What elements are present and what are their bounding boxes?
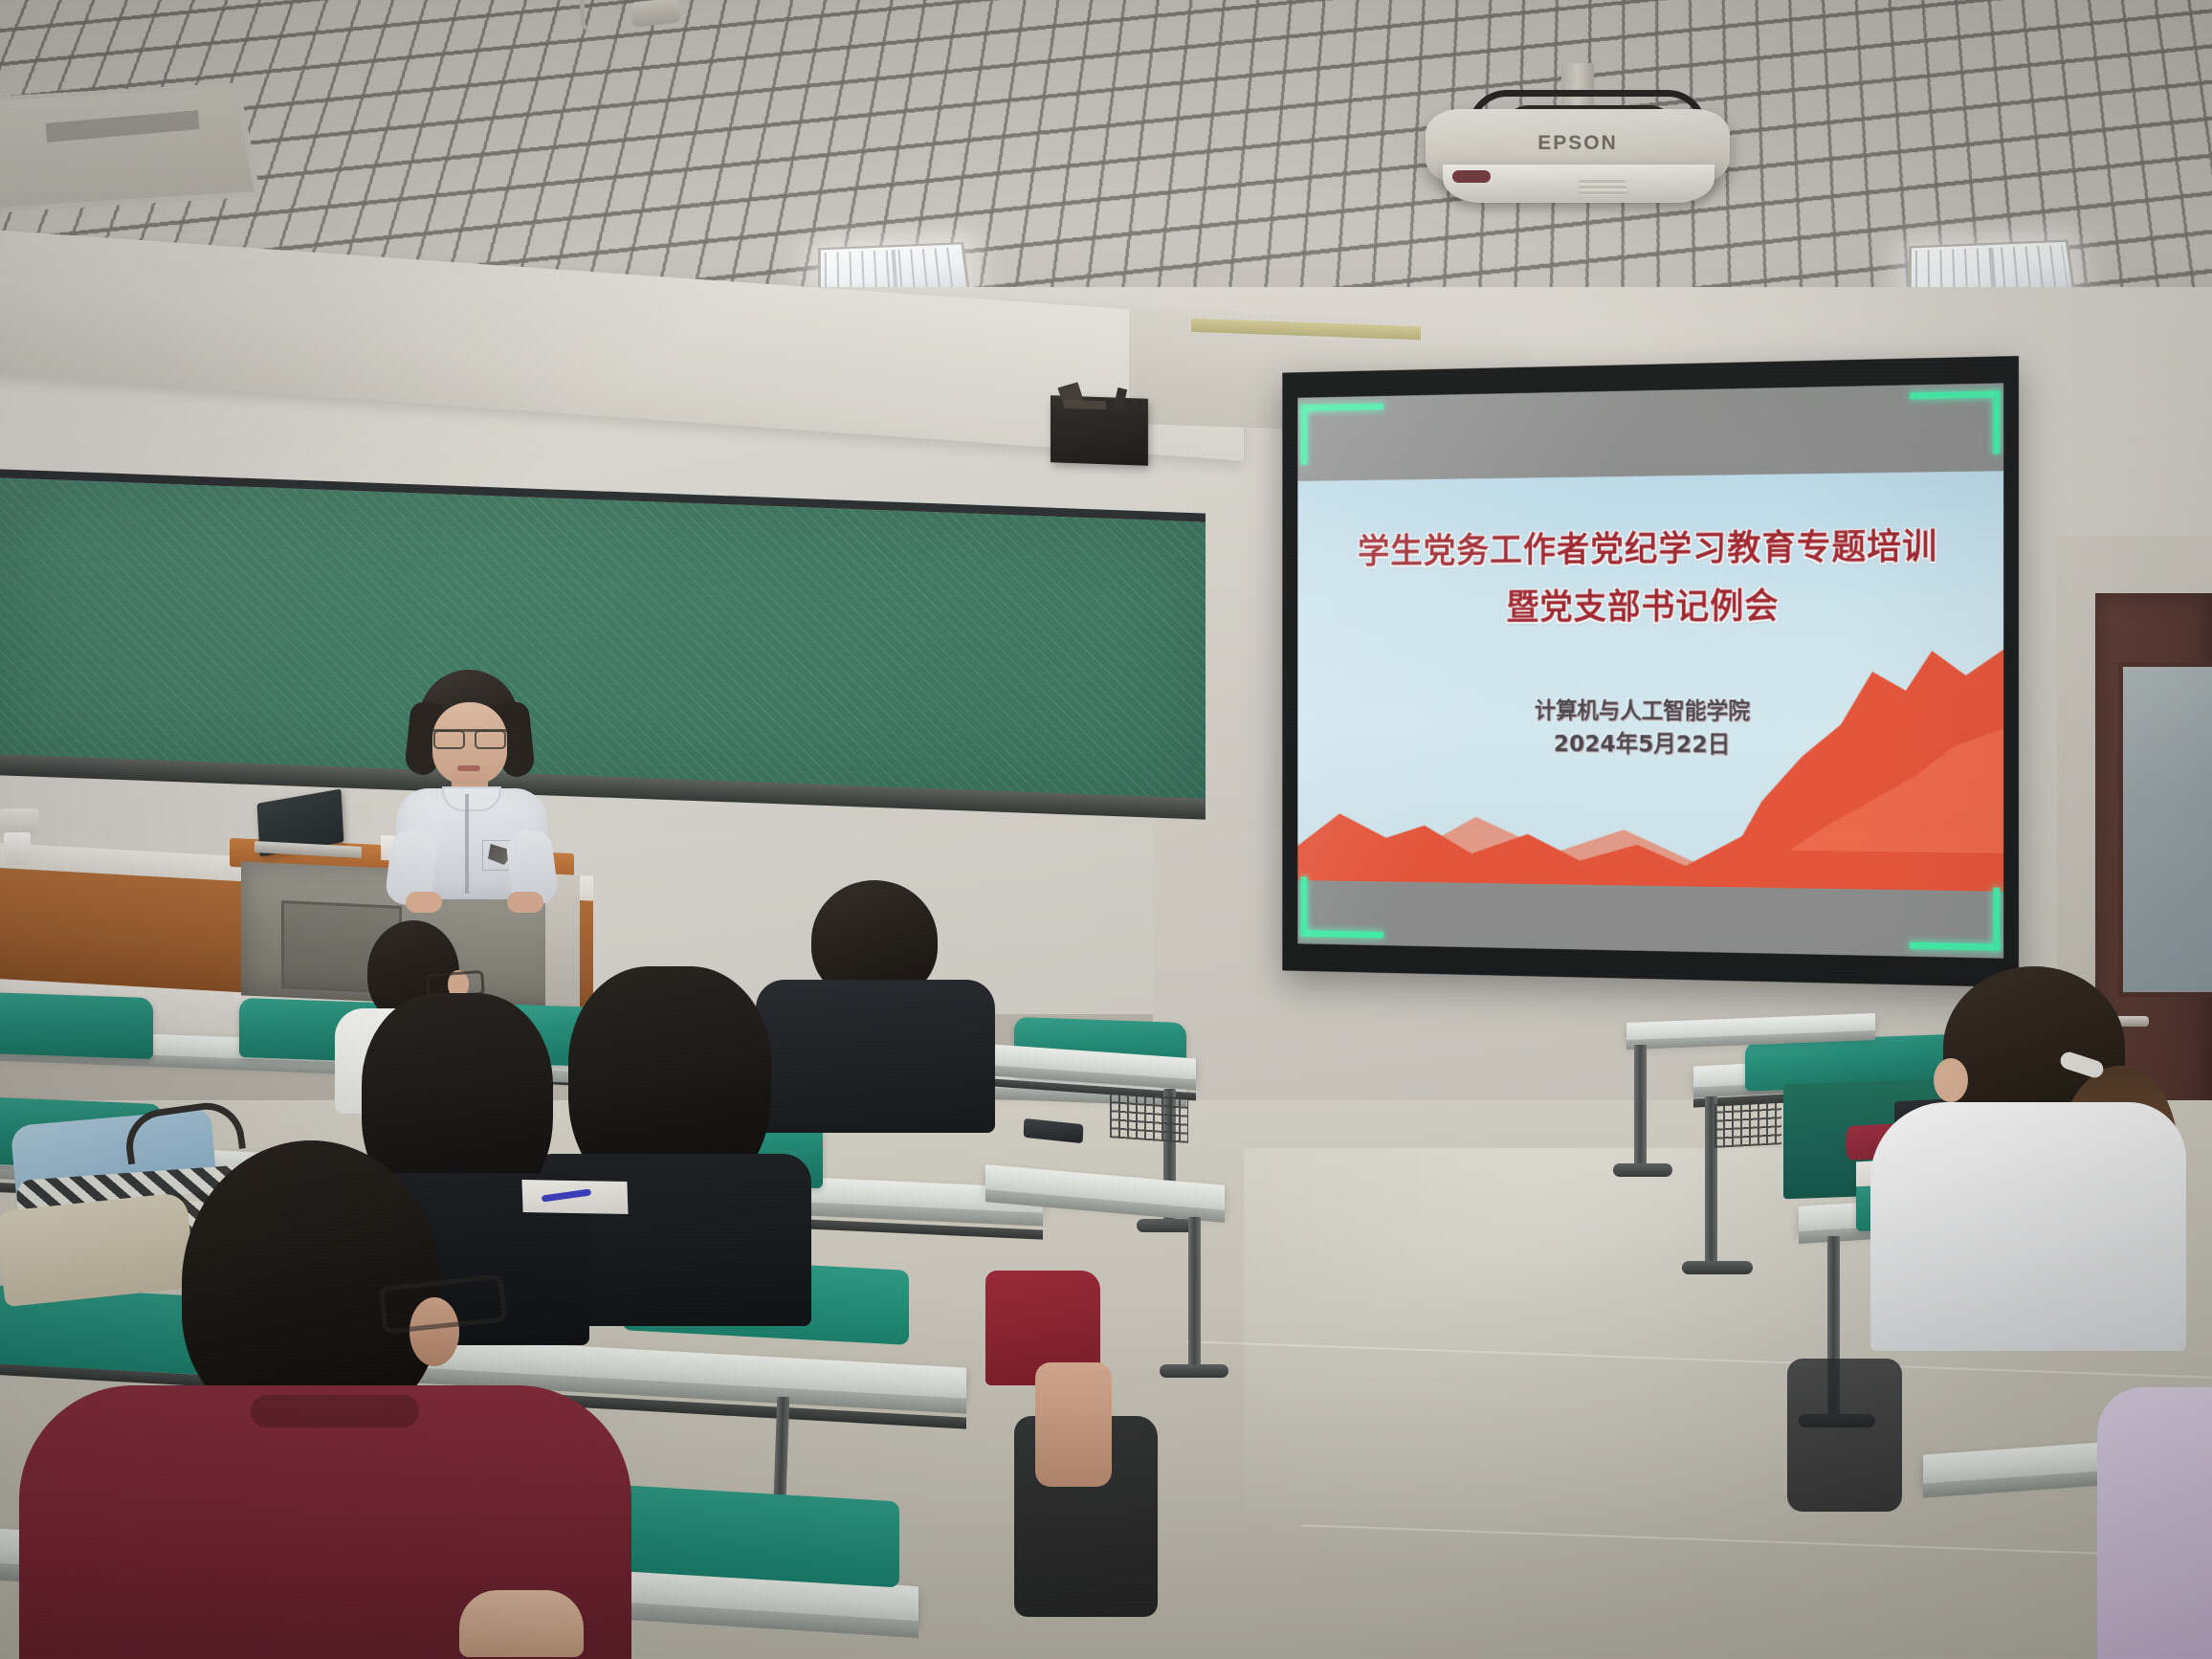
student (1880, 966, 2196, 1330)
presenter-hand-left (406, 892, 442, 913)
desk-foot (1613, 1163, 1672, 1177)
projection-screen: 学生党务工作者党纪学习教育专题培训 暨党支部书记例会 计算机与人工智能学院 20… (1282, 356, 2019, 987)
slide-date: 2024年5月22日 (1297, 724, 2003, 762)
desk-leg (1634, 1045, 1647, 1167)
ceiling-cable (580, 0, 617, 34)
chair[interactable] (0, 995, 153, 1064)
slide-title-line2: 暨党支部书记例会 (1297, 576, 2003, 630)
shirt-collar (251, 1395, 419, 1427)
student-top-lilac (2097, 1387, 2212, 1659)
bag-under-desk-right (1787, 1359, 1902, 1512)
desk-foot (1160, 1364, 1228, 1378)
paper-cup-stack (0, 808, 38, 835)
desk-foot (1682, 1261, 1753, 1274)
ceiling-air-diffuser (0, 82, 261, 213)
student-foreground (48, 1140, 603, 1659)
presenter-shirt-placket (465, 794, 469, 894)
paper-cup (4, 832, 31, 865)
chair[interactable] (593, 1493, 899, 1626)
slide-title-line1: 学生党务工作者党纪学习教育专题培训 (1297, 517, 2003, 573)
ceiling-projector: EPSON (1426, 96, 1730, 206)
student (2097, 1387, 2212, 1659)
screen-corner-mark-bottom-right (1910, 886, 2000, 950)
screen-surface: 学生党务工作者党纪学习教育专题培训 暨党支部书记例会 计算机与人工智能学院 20… (1297, 383, 2003, 958)
desk-unit (1626, 1018, 1875, 1161)
student-ear (1934, 1058, 1968, 1102)
student-hand (459, 1590, 584, 1657)
screen-corner-mark-top-left (1301, 404, 1383, 465)
presentation-slide: 学生党务工作者党纪学习教育专题培训 暨党支部书记例会 计算机与人工智能学院 20… (1297, 471, 2003, 892)
student-blouse-white (1870, 1102, 2186, 1351)
letterbox-top (1297, 383, 2003, 481)
classroom-photo-scene: EPSON (0, 0, 2212, 1659)
presenter-hand-right (507, 892, 543, 913)
laptop[interactable] (254, 796, 360, 855)
desk-leg (1188, 1217, 1201, 1370)
projector-lens (1452, 170, 1491, 183)
projector-brand-label: EPSON (1426, 132, 1730, 155)
glasses-icon (432, 729, 507, 747)
student-partial (985, 1271, 1139, 1510)
chair-seat (593, 1483, 899, 1587)
screen-corner-mark-top-right (1910, 390, 2000, 454)
speaker-plate (1064, 400, 1106, 410)
presenter (383, 670, 564, 880)
student-leg (1035, 1362, 1112, 1487)
door-window (2118, 662, 2212, 997)
projector-vent (1579, 180, 1626, 195)
wall-speaker (1051, 395, 1148, 466)
screen-corner-mark-bottom-left (1301, 876, 1383, 938)
chair-backrest (0, 992, 153, 1059)
slide-organization: 计算机与人工智能学院 (1297, 692, 2003, 726)
desk-book-basket (1110, 1090, 1188, 1143)
presenter-mouth (457, 765, 480, 771)
